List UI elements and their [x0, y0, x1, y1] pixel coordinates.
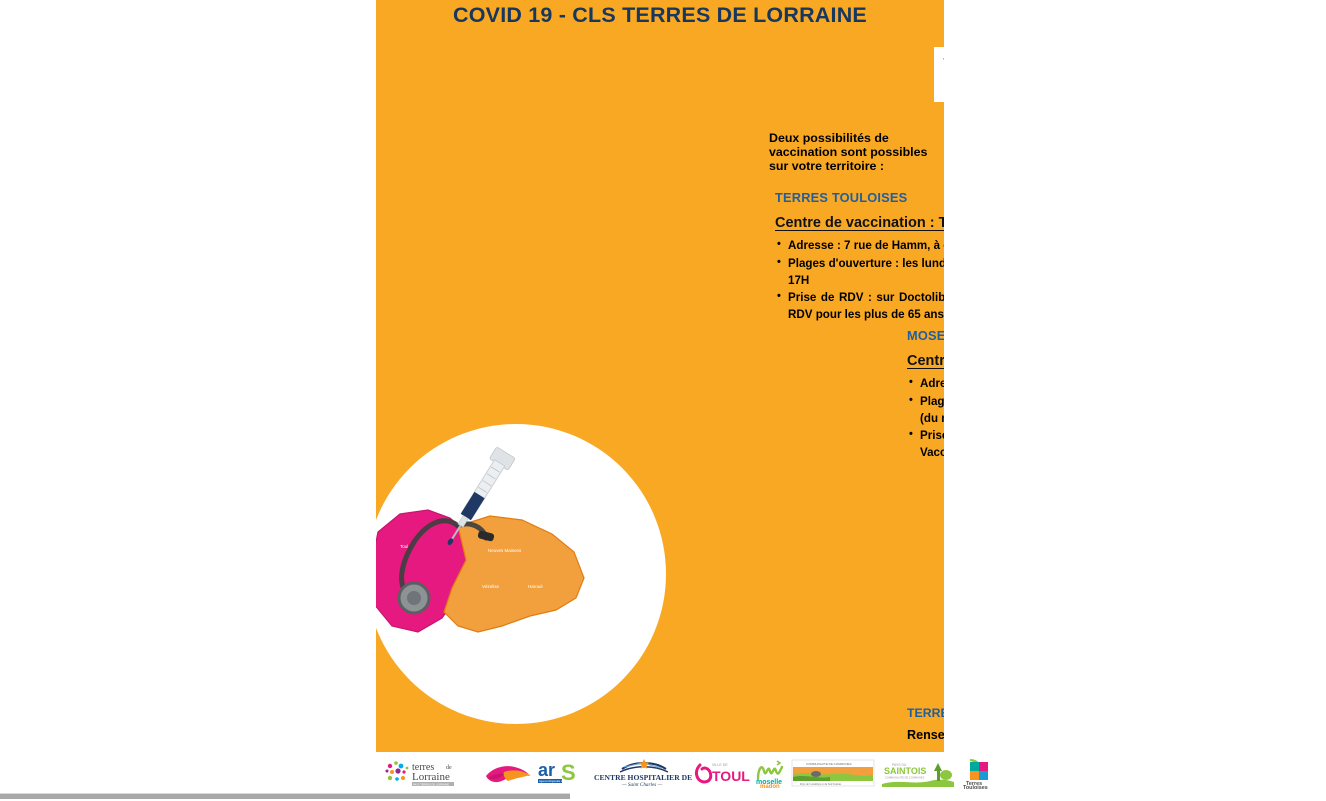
svg-text:Haroué: Haroué: [528, 584, 543, 589]
svg-text:Agence Régionale de Santé: Agence Régionale de Santé: [539, 779, 572, 783]
list-item: Adresse : salle Bernard Perrin, annexe d…: [907, 376, 944, 393]
vaccination-poster: Toul Neuves Maisons Vézelise Haroué: [376, 0, 944, 752]
svg-text:PAYS TERRES DE LORRAINE: PAYS TERRES DE LORRAINE: [413, 782, 449, 786]
svg-text:Toul: Toul: [400, 544, 408, 549]
poster-title-wrap: VACCINATION: [934, 47, 944, 102]
centre-hospitalier-de-toul-logo: CENTRE HOSPITALIER DE TOUL — Saint Charl…: [592, 756, 694, 790]
terres-touloises-logo: Terres Touloises: [960, 756, 1000, 790]
region-grand-est-bird-logo: [482, 756, 534, 790]
svg-text:VILLE DE: VILLE DE: [712, 763, 728, 767]
svg-text:CENTRE HOSPITALIER DE TOUL: CENTRE HOSPITALIER DE TOUL: [594, 773, 694, 782]
list-item: Plages d'ouverture : les lundis, mercred…: [775, 256, 944, 290]
list-item: Adresse : 7 rue de Hamm, à côté de la pa…: [775, 238, 944, 255]
territory-details-list: Adresse : salle Bernard Perrin, annexe d…: [907, 376, 944, 462]
svg-text:Pays de Colombey et du Sud Tou: Pays de Colombey et du Sud Toulois: [800, 783, 841, 786]
svg-text:SAINTOIS: SAINTOIS: [884, 766, 926, 776]
list-item: Prise de RDV : sur Doctolib et sur site …: [907, 428, 944, 462]
svg-text:ar: ar: [538, 760, 555, 780]
list-item: Prise de RDV : sur Doctolib et sur site …: [775, 290, 944, 324]
svg-text:— Saint Charles —: — Saint Charles —: [621, 782, 663, 788]
svg-text:TOUL: TOUL: [712, 768, 750, 784]
territory-name: MOSELLE ET MADON: [907, 328, 944, 343]
footer-territories-line: TERRES TOULOISES, MOSELLE MADON, SAINTOI…: [907, 706, 944, 720]
ville-de-toul-logo: VILLE DE TOUL: [694, 756, 752, 790]
svg-text:madon: madon: [760, 784, 780, 789]
svg-text:Lorraine: Lorraine: [412, 771, 450, 783]
syringe-over-territory-map-illustration: Toul Neuves Maisons Vézelise Haroué: [376, 440, 610, 690]
bottom-scrollbar[interactable]: [0, 793, 570, 799]
poster-kicker: COVID 19 - CLS TERRES DE LORRAINE: [376, 3, 944, 28]
territory-block-moselle-et-madon: MOSELLE ET MADON Centre de vaccination :…: [907, 328, 944, 463]
pays-du-saintois-logo: PAYS DU SAINTOIS COMMUNAUTE DE COMMUNES: [876, 756, 960, 790]
intro-text: Deux possibilités de vaccination sont po…: [769, 131, 944, 173]
vaccination-center-name: Centre de vaccination : Neuves Maisons: [907, 353, 944, 369]
list-item: Plages d'ouverture : du mardi au samedi …: [907, 394, 944, 428]
territory-name: TERRES TOULOISES: [775, 190, 944, 205]
page-title: VACCINATION: [934, 47, 944, 102]
svg-text:Neuves Maisons: Neuves Maisons: [488, 548, 522, 553]
moselle-et-madon-logo: moselle madon: [752, 756, 790, 790]
screenshot-canvas: Toul Neuves Maisons Vézelise Haroué: [0, 0, 1326, 801]
svg-text:Touloises: Touloises: [963, 785, 988, 790]
svg-text:Vézelise: Vézelise: [482, 584, 500, 589]
ars-grand-est-logo: ar S Agence Régionale de Santé: [534, 756, 592, 790]
territory-block-terres-touloises: TERRES TOULOISES Centre de vaccination :…: [775, 190, 944, 325]
footer-note-line: Renseignez vous auprès des professionnel…: [907, 728, 944, 742]
territory-details-list: Adresse : 7 rue de Hamm, à côté de la pa…: [775, 238, 944, 324]
terres-de-lorraine-logo: terres de Lorraine PAYS TERRES DE LORRAI…: [382, 756, 482, 790]
partner-logo-strip: terres de Lorraine PAYS TERRES DE LORRAI…: [376, 752, 944, 793]
vaccination-center-name: Centre de vaccination : Toul: [775, 215, 944, 231]
svg-text:COMMUNAUTE DE COMMUNES: COMMUNAUTE DE COMMUNES: [806, 762, 852, 766]
pays-de-colombey-sud-toulois-logo: COMMUNAUTE DE COMMUNES Pays de Colombey …: [790, 756, 876, 790]
svg-text:COMMUNAUTE DE COMMUNES: COMMUNAUTE DE COMMUNES: [885, 775, 925, 779]
